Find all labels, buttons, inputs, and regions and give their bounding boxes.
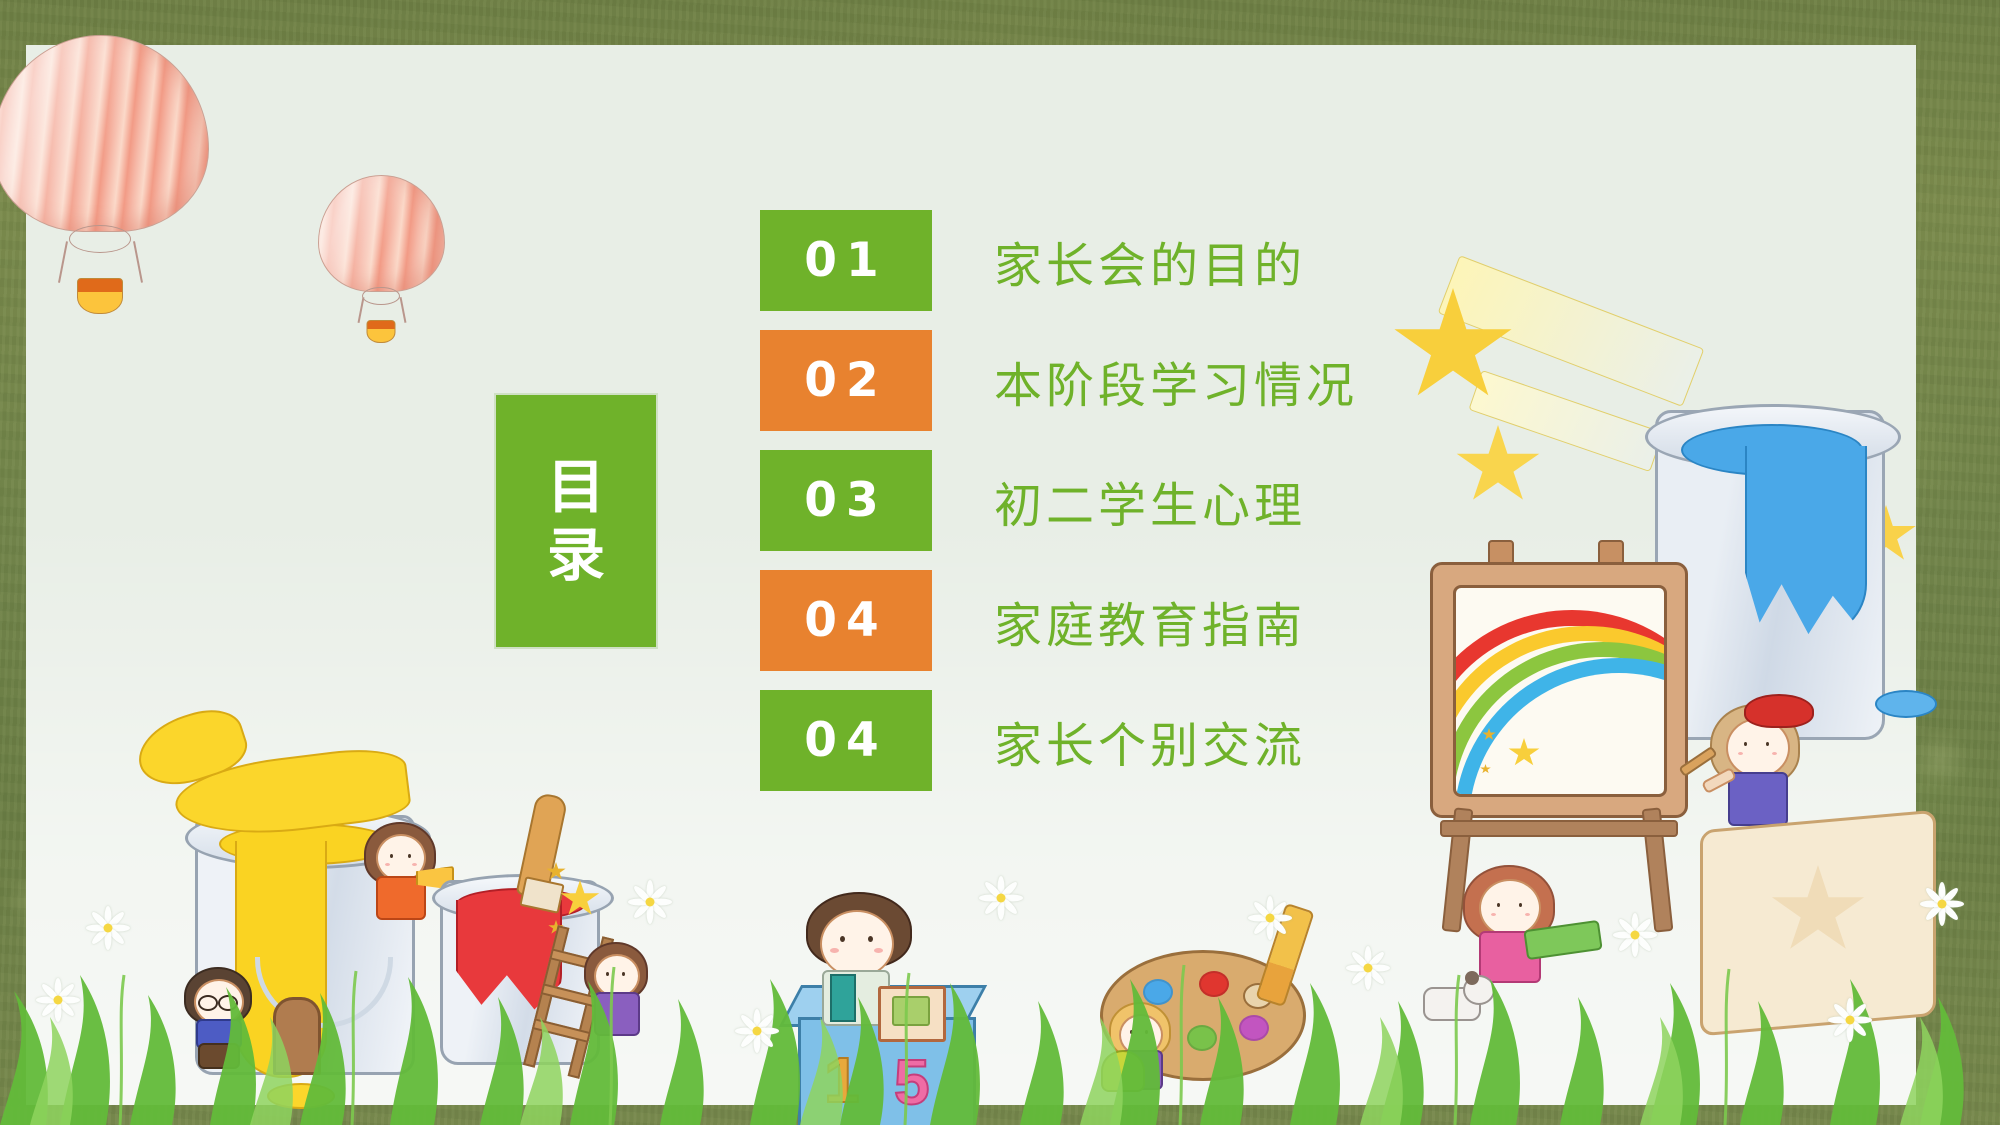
kid-crayon bbox=[1455, 855, 1565, 985]
slide-root: 1 5 目 bbox=[0, 0, 2000, 1125]
dog-icon bbox=[1415, 975, 1489, 1023]
daisy-icon bbox=[975, 872, 1027, 924]
cube-digit-right: 5 bbox=[894, 1045, 930, 1119]
toc-label-2: 本阶段学习情况 bbox=[994, 346, 1358, 416]
kid-reading bbox=[800, 890, 930, 1050]
toc-label-1: 家长会的目的 bbox=[994, 226, 1306, 296]
kid-painter bbox=[1700, 690, 1810, 830]
kid-ladder bbox=[580, 940, 650, 1036]
daisy-icon bbox=[1612, 912, 1658, 958]
toc-title-box: 目 录 bbox=[494, 393, 658, 649]
toc-char-lu: 录 bbox=[547, 521, 605, 589]
toc-item-1[interactable]: 01 家长会的目的 bbox=[760, 210, 1280, 311]
toc-label-3: 初二学生心理 bbox=[994, 466, 1306, 536]
toc-char-mu: 目 bbox=[547, 453, 605, 521]
kid-megaphone bbox=[360, 818, 438, 918]
balloon-small-icon bbox=[318, 175, 443, 330]
toc-badge-4: 04 bbox=[760, 570, 932, 671]
kid-glasses bbox=[180, 965, 254, 1065]
daisy-icon bbox=[1830, 1000, 1870, 1040]
paint-spill-blue bbox=[1875, 690, 1937, 718]
toc-badge-3: 03 bbox=[760, 450, 932, 551]
toc-item-5[interactable]: 04 家长个别交流 bbox=[760, 690, 1280, 791]
toc-item-3[interactable]: 03 初二学生心理 bbox=[760, 450, 1280, 551]
toc-badge-5: 04 bbox=[760, 690, 932, 791]
cube-digit-left: 1 bbox=[824, 1043, 860, 1117]
toc-badge-1: 01 bbox=[760, 210, 932, 311]
daisy-icon bbox=[1248, 896, 1292, 940]
toc-item-4[interactable]: 04 家庭教育指南 bbox=[760, 570, 1280, 671]
daisy-icon bbox=[628, 880, 672, 924]
balloon-large-icon bbox=[0, 35, 207, 295]
toc-item-2[interactable]: 02 本阶段学习情况 bbox=[760, 330, 1280, 431]
toc-label-5: 家长个别交流 bbox=[994, 706, 1306, 776]
daisy-icon bbox=[738, 1012, 776, 1050]
kid-tiny-center bbox=[1095, 1022, 1147, 1092]
toc-list: 01 家长会的目的 02 本阶段学习情况 03 初二学生心理 04 家庭教育指南… bbox=[760, 210, 1280, 810]
daisy-icon bbox=[1348, 948, 1388, 988]
daisy-icon bbox=[36, 978, 80, 1022]
daisy-icon bbox=[86, 906, 130, 950]
toc-label-4: 家庭教育指南 bbox=[994, 586, 1306, 656]
toc-badge-2: 02 bbox=[760, 330, 932, 431]
daisy-icon bbox=[1918, 880, 1966, 928]
